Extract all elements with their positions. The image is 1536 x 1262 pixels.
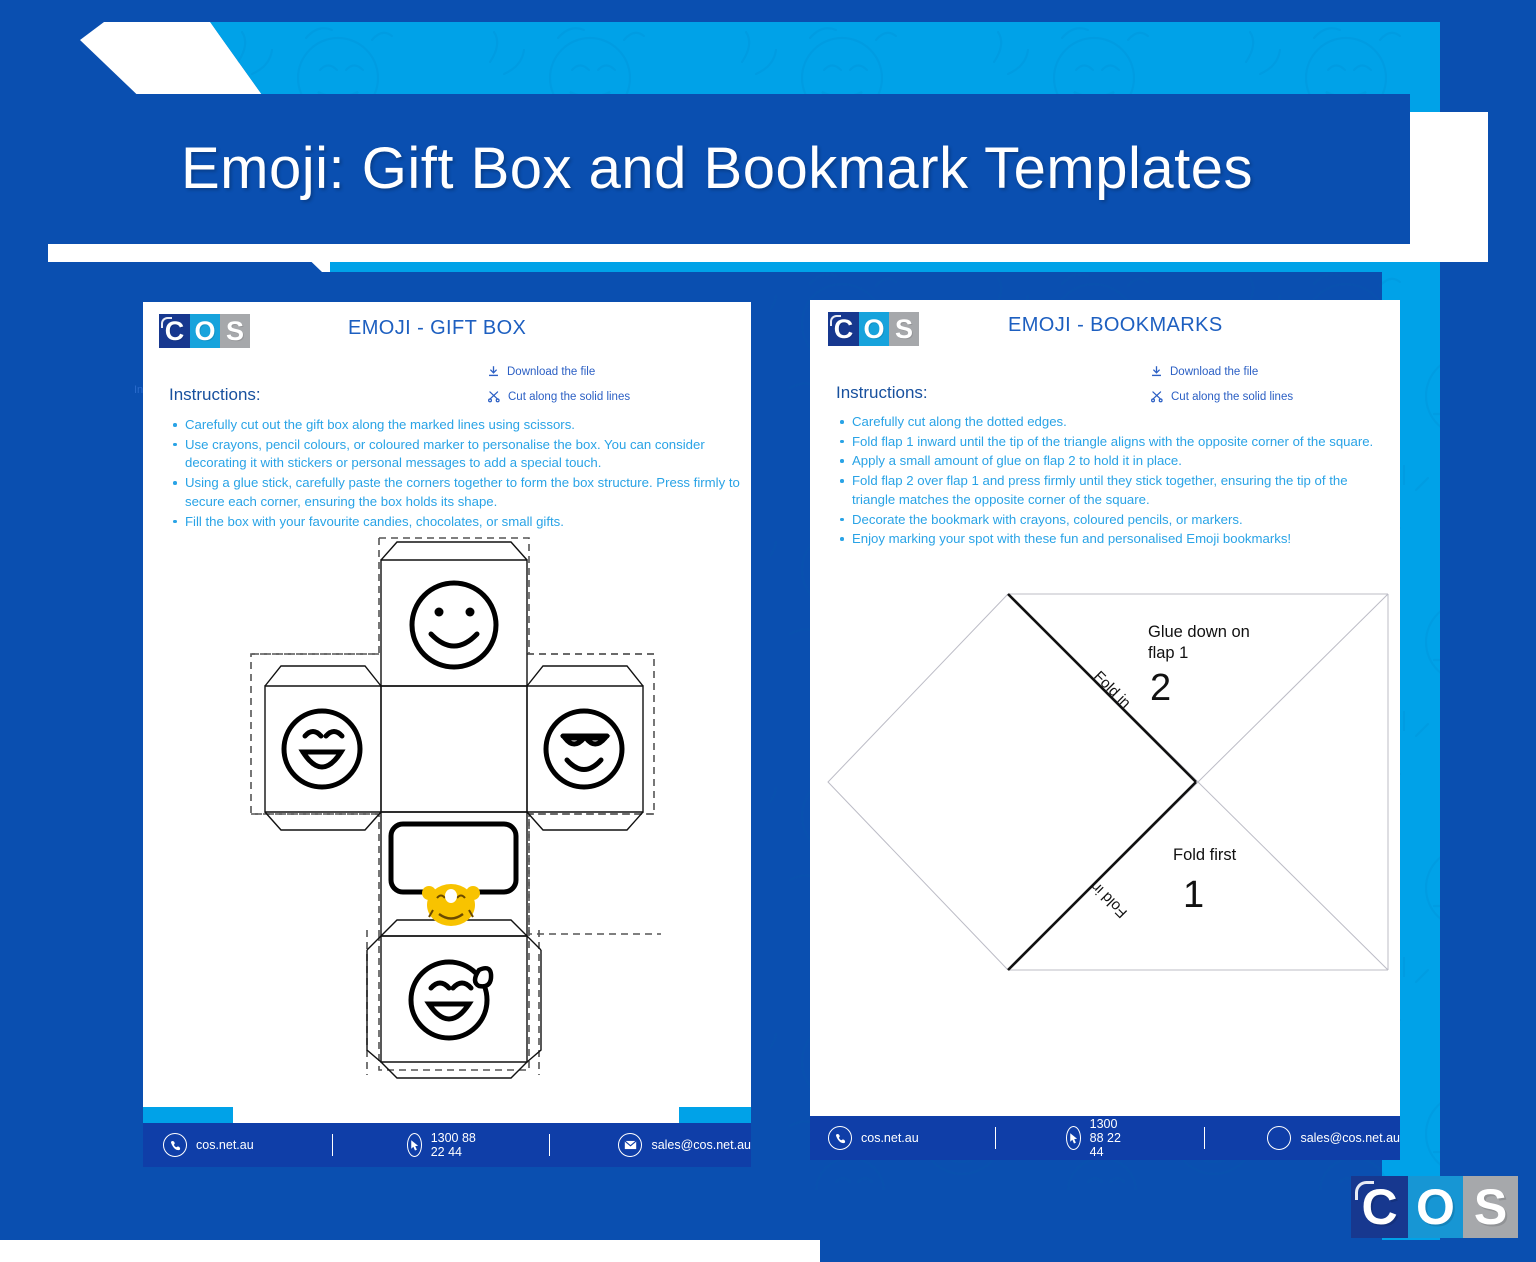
cos-logo-s: S	[220, 314, 250, 348]
cos-logo-c: C	[828, 312, 859, 346]
flap-number-one: 1	[1183, 874, 1204, 916]
footer-separator	[549, 1134, 550, 1156]
download-note[interactable]: Download the file	[487, 365, 595, 378]
list-item: Using a glue stick, carefully paste the …	[170, 474, 740, 511]
footer-separator	[995, 1127, 996, 1149]
list-item: Fill the box with your favourite candies…	[170, 513, 740, 532]
bottom-white-strip	[0, 1240, 820, 1262]
footer-website-label: cos.net.au	[861, 1131, 919, 1145]
bookmarks-template-card: C O S EMOJI - BOOKMARKS Download the fil…	[810, 300, 1400, 1160]
bookmarks-instructions-label: Instructions:	[836, 383, 928, 403]
download-note-label: Download the file	[1170, 366, 1258, 378]
footer-email-label: sales@cos.net.au	[651, 1138, 751, 1152]
download-icon	[487, 365, 500, 378]
giftbox-card-title: EMOJI - GIFT BOX	[348, 317, 526, 340]
bookmarks-instruction-list: Carefully cut along the dotted edges. Fo…	[837, 413, 1393, 550]
download-note[interactable]: Download the file	[1150, 365, 1258, 378]
cut-note-label: Cut along the solid lines	[508, 391, 630, 403]
list-item: Apply a small amount of glue on flap 2 t…	[837, 452, 1393, 471]
cos-logo-swoosh-icon	[161, 317, 172, 328]
cursor-click-icon	[1066, 1126, 1081, 1150]
footer-email-label: sales@cos.net.au	[1300, 1131, 1400, 1145]
cursor-click-icon	[407, 1133, 422, 1157]
cos-logo-large-o: O	[1408, 1176, 1463, 1238]
poster-canvas: Emoji: Gift Box and Bookmark Templates I…	[0, 0, 1536, 1262]
page-title: Emoji: Gift Box and Bookmark Templates	[151, 138, 1283, 201]
cut-note-label: Cut along the solid lines	[1171, 391, 1293, 403]
edge-ghost-text: In	[134, 384, 143, 396]
footer-phone-label: 1300 88 22 44	[431, 1131, 478, 1159]
fold-in-label-lower: Fold in	[1087, 877, 1131, 921]
list-item: Carefully cut along the dotted edges.	[837, 413, 1393, 432]
phone-icon	[828, 1126, 852, 1150]
giftbox-instructions-label: Instructions:	[169, 385, 261, 405]
footer-item-website[interactable]: cos.net.au	[828, 1126, 919, 1150]
cos-logo-swoosh-icon	[1355, 1181, 1374, 1200]
footer-item-phone[interactable]: 1300 88 22 44	[407, 1131, 478, 1159]
footer-deco-right	[679, 1107, 751, 1123]
cos-logo: C O S	[828, 312, 919, 346]
cos-logo-o: O	[190, 314, 220, 348]
cut-note[interactable]: Cut along the solid lines	[487, 390, 630, 403]
cut-note[interactable]: Cut along the solid lines	[1150, 390, 1293, 403]
list-item: Enjoy marking your spot with these fun a…	[837, 530, 1393, 549]
top-dark-strip	[0, 0, 1536, 22]
giftbox-card-footer: cos.net.au 1300 88 22 44 sales@cos.net.a…	[143, 1123, 751, 1167]
cos-logo-s: S	[889, 312, 919, 346]
download-note-label: Download the file	[507, 366, 595, 378]
giftbox-template-card: C O S EMOJI - GIFT BOX Download the file	[143, 302, 751, 1167]
list-item: Carefully cut out the gift box along the…	[170, 416, 740, 435]
circle-icon	[1267, 1126, 1291, 1150]
footer-item-email[interactable]: sales@cos.net.au	[1267, 1126, 1400, 1150]
phone-icon	[163, 1133, 187, 1157]
footer-phone-label: 1300 88 22 44	[1090, 1117, 1135, 1159]
scissors-icon	[487, 390, 501, 403]
footer-deco-left	[143, 1107, 233, 1123]
cos-logo-swoosh-icon	[830, 315, 841, 326]
fold-first-label: Fold first	[1173, 846, 1237, 864]
bookmark-fold-diagram: Glue down on flap 1 2 Fold in Fold first…	[818, 582, 1398, 992]
download-icon	[1150, 365, 1163, 378]
title-block: Emoji: Gift Box and Bookmark Templates	[24, 94, 1410, 244]
cos-logo-large-s: S	[1463, 1176, 1518, 1238]
cos-logo-large-c: C	[1351, 1176, 1408, 1238]
bookmarks-card-title: EMOJI - BOOKMARKS	[1008, 314, 1223, 337]
fold-in-label-upper: Fold in	[1090, 668, 1134, 712]
list-item: Fold flap 2 over flap 1 and press firmly…	[837, 472, 1393, 509]
footer-separator	[1204, 1127, 1205, 1149]
cos-logo-c: C	[159, 314, 190, 348]
footer-website-label: cos.net.au	[196, 1138, 254, 1152]
bookmarks-card-footer: cos.net.au 1300 88 22 44 sales@cos.net.a…	[810, 1116, 1400, 1160]
glue-down-label-line2: flap 1	[1148, 644, 1188, 662]
cos-logo-o: O	[859, 312, 889, 346]
envelope-icon	[618, 1133, 642, 1157]
footer-item-phone[interactable]: 1300 88 22 44	[1066, 1117, 1135, 1159]
bottom-dark-strip	[820, 1240, 1536, 1262]
cos-logo-large: C O S	[1351, 1176, 1518, 1238]
scissors-icon	[1150, 390, 1164, 403]
list-item: Fold flap 1 inward until the tip of the …	[837, 433, 1393, 452]
footer-item-website[interactable]: cos.net.au	[163, 1133, 254, 1157]
cos-logo: C O S	[159, 314, 250, 348]
footer-separator	[332, 1134, 333, 1156]
giftbox-cube-net-diagram	[239, 530, 669, 1100]
list-item: Use crayons, pencil colours, or coloured…	[170, 436, 740, 473]
list-item: Decorate the bookmark with crayons, colo…	[837, 511, 1393, 530]
footer-item-email[interactable]: sales@cos.net.au	[618, 1133, 751, 1157]
flap-number-two: 2	[1150, 667, 1171, 709]
glue-down-label-line1: Glue down on	[1148, 623, 1250, 641]
giftbox-instruction-list: Carefully cut out the gift box along the…	[170, 416, 740, 532]
